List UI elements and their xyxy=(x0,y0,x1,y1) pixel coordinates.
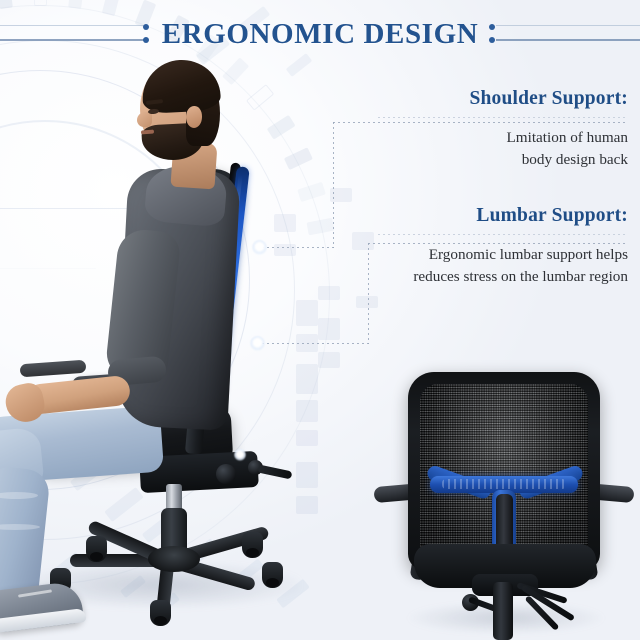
shoulder-connector-vertical xyxy=(333,122,334,248)
photo-man-on-chair xyxy=(0,62,320,640)
lumbar-support-body: Ergonomic lumbar support helps reduces s… xyxy=(378,244,628,287)
shoulder-body-line-2: body design back xyxy=(378,149,628,171)
lumbar-connector-vertical xyxy=(368,243,369,344)
lumbar-body-line-2: reduces stress on the lumbar region xyxy=(378,266,628,288)
decor-segment xyxy=(34,0,47,6)
lumbar-support-marker xyxy=(250,336,265,351)
decor-segment xyxy=(0,0,13,9)
decor-segment xyxy=(68,0,84,9)
infographic-canvas: ERGONOMIC DESIGN xyxy=(0,0,640,640)
chair-armrest-pad-far xyxy=(20,360,87,378)
page-title: ERGONOMIC DESIGN xyxy=(0,18,640,51)
person-hair xyxy=(141,58,222,114)
header-rule-right-bottom xyxy=(496,39,640,41)
person-nose xyxy=(137,112,152,127)
shoulder-support-marker xyxy=(252,240,267,255)
chair-rear-gas-cylinder xyxy=(493,582,513,640)
decor-block xyxy=(318,286,340,300)
shoulder-divider xyxy=(378,117,628,118)
decor-block xyxy=(318,318,340,340)
chair-base-hub xyxy=(148,546,200,572)
lumbar-bracket-texture xyxy=(442,479,566,489)
header: ERGONOMIC DESIGN xyxy=(0,10,640,58)
shoulder-body-line-1: Lmitation of human xyxy=(378,127,628,149)
colon-dots-icon-right xyxy=(489,22,495,52)
person-ear xyxy=(186,106,202,128)
chair-tension-knob xyxy=(216,464,236,484)
lumbar-support-heading: Lumbar Support: xyxy=(378,205,628,227)
shoulder-support-heading: Shoulder Support: xyxy=(378,88,628,110)
decor-block xyxy=(352,232,374,250)
feature-block-shoulder: Shoulder Support: Lmitation of human bod… xyxy=(378,88,628,170)
chair-caster xyxy=(242,532,263,558)
chair-caster xyxy=(86,536,107,562)
lumbar-body-line-1: Ergonomic lumbar support helps xyxy=(378,244,628,266)
lumbar-divider xyxy=(378,234,628,235)
shoulder-support-body: Lmitation of human body design back xyxy=(378,127,628,170)
chair-adjust-lever xyxy=(258,465,293,480)
chair-caster xyxy=(262,562,283,588)
header-rule-right-top xyxy=(496,25,640,26)
feature-block-lumbar: Lumbar Support: Ergonomic lumbar support… xyxy=(378,205,628,287)
decor-block xyxy=(356,296,378,308)
chair-highlight-marker xyxy=(234,449,246,461)
decor-block xyxy=(318,352,340,368)
decor-block xyxy=(330,188,352,202)
chair-caster xyxy=(150,600,171,626)
photo-chair-rear-view xyxy=(368,366,640,640)
